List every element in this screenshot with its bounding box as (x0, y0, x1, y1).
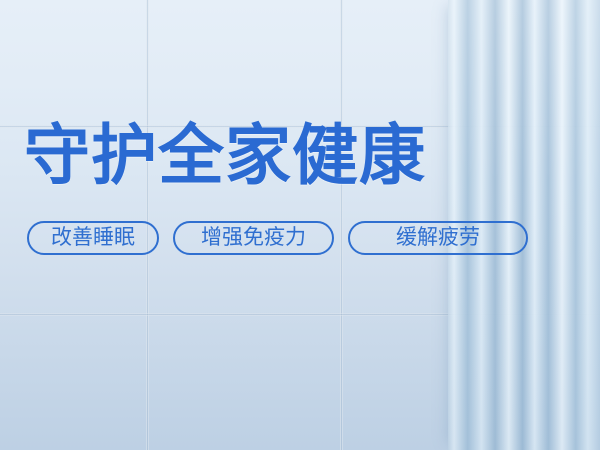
banner-content: 守护全家健康 改善睡眠 增强免疫力 缓解疲劳 (24, 0, 544, 450)
benefit-tag-relieve-fatigue[interactable]: 缓解疲劳 (348, 221, 528, 255)
benefit-tag-row: 改善睡眠 增强免疫力 缓解疲劳 (27, 221, 528, 255)
benefit-tag-boost-immunity[interactable]: 增强免疫力 (173, 221, 334, 255)
health-promo-banner: 守护全家健康 改善睡眠 增强免疫力 缓解疲劳 (0, 0, 600, 450)
benefit-tag-improve-sleep[interactable]: 改善睡眠 (27, 221, 159, 255)
banner-headline: 守护全家健康 (24, 122, 426, 188)
